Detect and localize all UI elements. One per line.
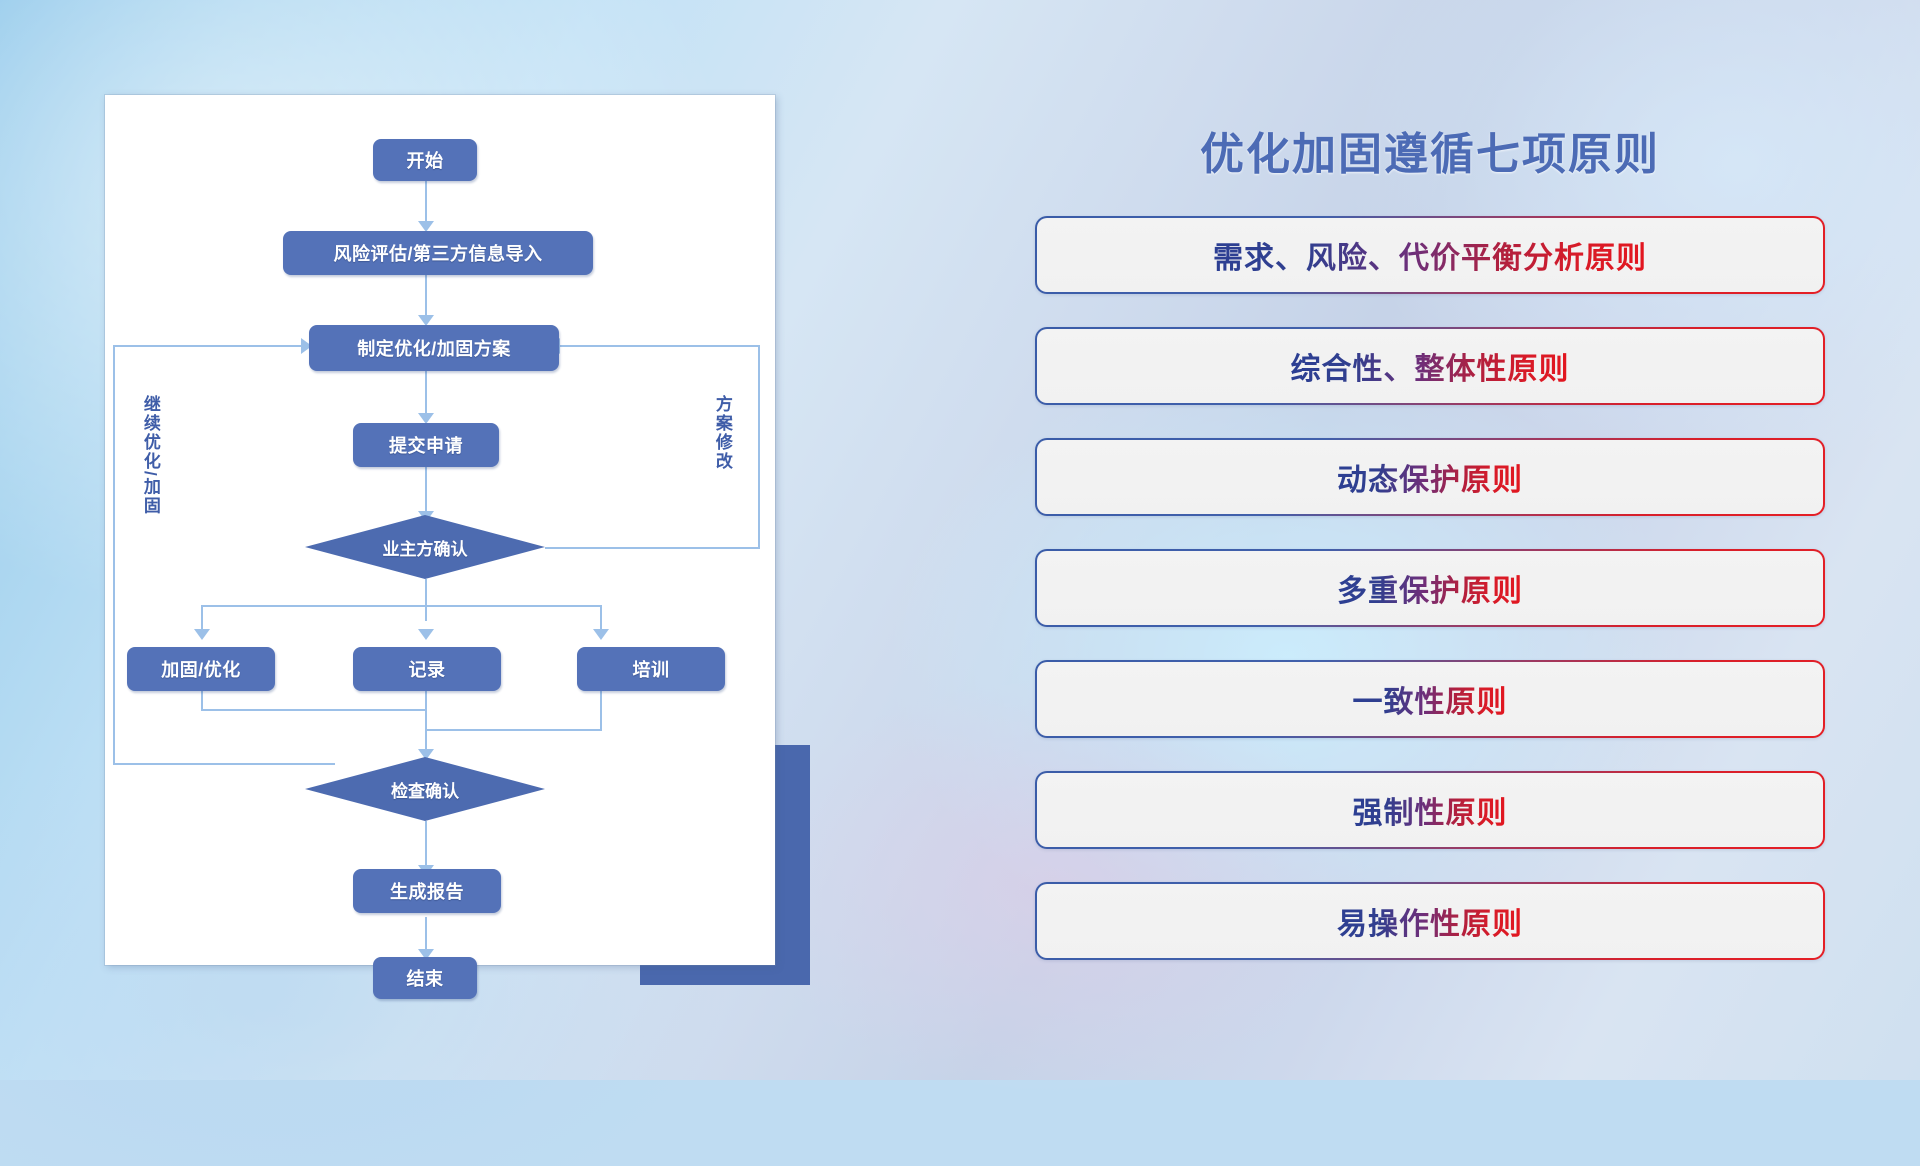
flow-node-submit-application[interactable]: 提交申请 <box>353 423 499 467</box>
principle-label: 易操作性原则 <box>1337 899 1523 943</box>
connector-left-loop-bottom <box>113 763 335 765</box>
connector-start-to-risk <box>425 181 427 225</box>
connector-left-loop-top <box>113 345 303 347</box>
connector-left-loop-vertical <box>113 345 115 765</box>
principle-label: 一致性原则 <box>1353 677 1508 721</box>
flow-node-generate-report[interactable]: 生成报告 <box>353 869 501 913</box>
principle-item-3[interactable]: 动态保护原则 <box>1035 438 1825 516</box>
arrowhead-reinforce <box>194 629 210 640</box>
principle-label: 综合性、整体性原则 <box>1291 344 1570 388</box>
connector-training-down <box>600 691 602 731</box>
connector-plan-to-submit <box>425 371 427 417</box>
arrowhead-record <box>418 629 434 640</box>
flow-node-plan[interactable]: 制定优化/加固方案 <box>309 325 559 371</box>
flow-node-reinforce-optimize[interactable]: 加固/优化 <box>127 647 275 691</box>
flow-node-start[interactable]: 开始 <box>373 139 477 181</box>
principle-item-2[interactable]: 综合性、整体性原则 <box>1035 327 1825 405</box>
flow-node-training[interactable]: 培训 <box>577 647 725 691</box>
connector-training-merge <box>425 729 602 731</box>
principles-title: 优化加固遵循七项原则 <box>1020 118 1840 182</box>
connector-right-loop-from-confirm <box>545 547 760 549</box>
connector-branch-bus <box>201 605 601 607</box>
principle-label: 强制性原则 <box>1353 788 1508 832</box>
principle-label: 需求、风险、代价平衡分析原则 <box>1213 233 1647 277</box>
arrowhead-training <box>593 629 609 640</box>
connector-right-loop-vertical <box>758 345 760 549</box>
connector-submit-to-confirm <box>425 467 427 515</box>
connector-reinforce-merge <box>201 709 427 711</box>
flow-label-plan-revision: 方案修改 <box>713 395 731 471</box>
connector-record-down <box>425 691 427 753</box>
connector-report-to-end <box>425 917 427 953</box>
flow-node-inspect-confirm[interactable]: 检查确认 <box>305 757 545 821</box>
principle-item-6[interactable]: 强制性原则 <box>1035 771 1825 849</box>
connector-risk-to-plan <box>425 275 427 319</box>
principle-item-7[interactable]: 易操作性原则 <box>1035 882 1825 960</box>
connector-inspect-to-report <box>425 821 427 869</box>
flowchart-card: 开始 风险评估/第三方信息导入 制定优化/加固方案 提交申请 业主方确认 加固/… <box>105 95 775 965</box>
connector-confirm-down <box>425 579 427 621</box>
principle-label: 多重保护原则 <box>1337 566 1523 610</box>
principle-item-5[interactable]: 一致性原则 <box>1035 660 1825 738</box>
principle-item-1[interactable]: 需求、风险、代价平衡分析原则 <box>1035 216 1825 294</box>
flowchart-canvas: 开始 风险评估/第三方信息导入 制定优化/加固方案 提交申请 业主方确认 加固/… <box>105 95 775 965</box>
connector-reinforce-down <box>201 691 203 711</box>
flow-node-record[interactable]: 记录 <box>353 647 501 691</box>
flow-node-owner-confirm[interactable]: 业主方确认 <box>305 515 545 579</box>
principle-item-4[interactable]: 多重保护原则 <box>1035 549 1825 627</box>
flow-label-continue-optimize: 继续优化/加固 <box>141 395 159 516</box>
principle-label: 动态保护原则 <box>1337 455 1523 499</box>
flow-node-risk-assessment[interactable]: 风险评估/第三方信息导入 <box>283 231 593 275</box>
flow-node-end[interactable]: 结束 <box>373 957 477 999</box>
connector-right-loop-top <box>560 345 760 347</box>
principles-panel: 优化加固遵循七项原则 需求、风险、代价平衡分析原则 综合性、整体性原则 动态保护… <box>1020 90 1840 1020</box>
